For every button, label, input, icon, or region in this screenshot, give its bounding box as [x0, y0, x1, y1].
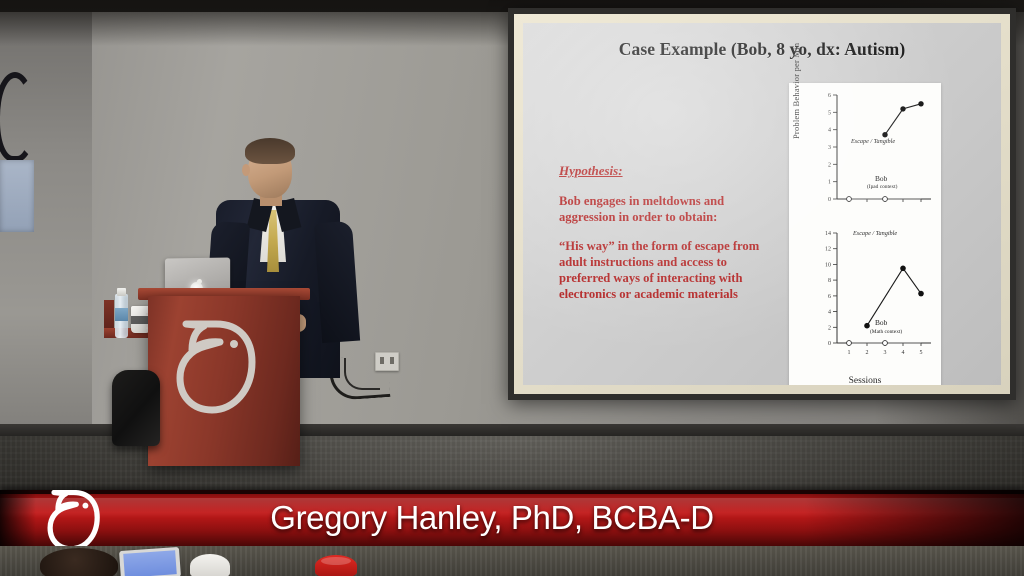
- video-frame: Case Example (Bob, 8 yo, dx: Autism) Hyp…: [0, 0, 1024, 576]
- svg-text:0: 0: [828, 341, 831, 347]
- figure-x-axis-label: Sessions: [789, 376, 941, 385]
- chart-top-svg: 0 1 2 3 4 5 6: [815, 87, 935, 217]
- svg-text:5: 5: [920, 350, 923, 356]
- svg-text:0: 0: [828, 197, 831, 203]
- projection-screen: Case Example (Bob, 8 yo, dx: Autism) Hyp…: [508, 8, 1016, 400]
- svg-text:3: 3: [884, 350, 887, 356]
- speaker-arm-right: [314, 221, 360, 343]
- svg-text:2: 2: [828, 162, 831, 168]
- tablet-device: [119, 547, 181, 576]
- wall-panel: [0, 160, 34, 232]
- svg-text:10: 10: [825, 262, 831, 268]
- speaker-hair: [245, 138, 295, 164]
- red-cup: [315, 555, 357, 576]
- svg-text:3: 3: [828, 145, 831, 151]
- lower-third-banner: Gregory Hanley, PhD, BCBA-D: [0, 490, 1024, 546]
- svg-text:8: 8: [828, 278, 831, 284]
- speaker-ear: [242, 164, 250, 176]
- slide-figure: Problem Behavior per Min: [789, 83, 941, 385]
- tablet-screen: [123, 550, 177, 576]
- chart-bottom-annotation-condition: Escape / Tangible: [853, 231, 897, 238]
- svg-text:2: 2: [866, 350, 869, 356]
- chart-top-annotation-context: (Ipad context): [867, 184, 897, 190]
- svg-text:6: 6: [828, 294, 831, 300]
- chart-panel-bottom: 0 2 4 6 8 10 12 14: [815, 225, 935, 375]
- chart-top-annotation-subject: Bob: [875, 175, 887, 183]
- svg-text:1: 1: [848, 350, 851, 356]
- chart-bottom-svg: 0 2 4 6 8 10 12 14: [815, 225, 935, 375]
- svg-text:6: 6: [828, 93, 831, 99]
- podium: [148, 296, 300, 466]
- svg-text:4: 4: [902, 350, 905, 356]
- audience-member-head: [40, 548, 118, 576]
- svg-text:4: 4: [828, 310, 831, 316]
- audience-foreground: [0, 546, 1024, 576]
- water-bottle-label: [115, 308, 128, 321]
- svg-text:1: 1: [828, 180, 831, 186]
- svg-text:2: 2: [828, 325, 831, 331]
- water-bottle-cap: [117, 288, 126, 296]
- speaker-name-label: Gregory Hanley, PhD, BCBA-D: [0, 490, 1024, 546]
- white-cup: [190, 554, 230, 576]
- hypothesis-heading: Hypothesis:: [559, 163, 774, 180]
- svg-text:12: 12: [825, 247, 831, 253]
- svg-text:14: 14: [825, 231, 831, 237]
- chart-bottom-annotation-subject: Bob: [875, 319, 887, 327]
- backpack: [112, 370, 160, 446]
- chart-top-annotation-condition: Escape / Tangible: [851, 139, 895, 146]
- slide-body: Hypothesis: Bob engages in meltdowns and…: [559, 163, 774, 315]
- screen-bezel: Case Example (Bob, 8 yo, dx: Autism) Hyp…: [514, 14, 1010, 394]
- presentation-slide: Case Example (Bob, 8 yo, dx: Autism) Hyp…: [523, 23, 1001, 385]
- chart-panel-top: 0 1 2 3 4 5 6: [815, 87, 935, 217]
- svg-text:4: 4: [828, 128, 831, 134]
- slide-paragraph-1: Bob engages in meltdowns and aggression …: [559, 193, 774, 225]
- slide-title: Case Example (Bob, 8 yo, dx: Autism): [523, 39, 1001, 60]
- slide-paragraph-2: “His way” in the form of escape from adu…: [559, 238, 774, 302]
- svg-text:5: 5: [828, 110, 831, 116]
- penguin-bird-logo-icon: [172, 314, 258, 418]
- figure-y-axis-label: Problem Behavior per Min: [791, 23, 801, 139]
- chart-bottom-annotation-context: (Math context): [870, 329, 902, 335]
